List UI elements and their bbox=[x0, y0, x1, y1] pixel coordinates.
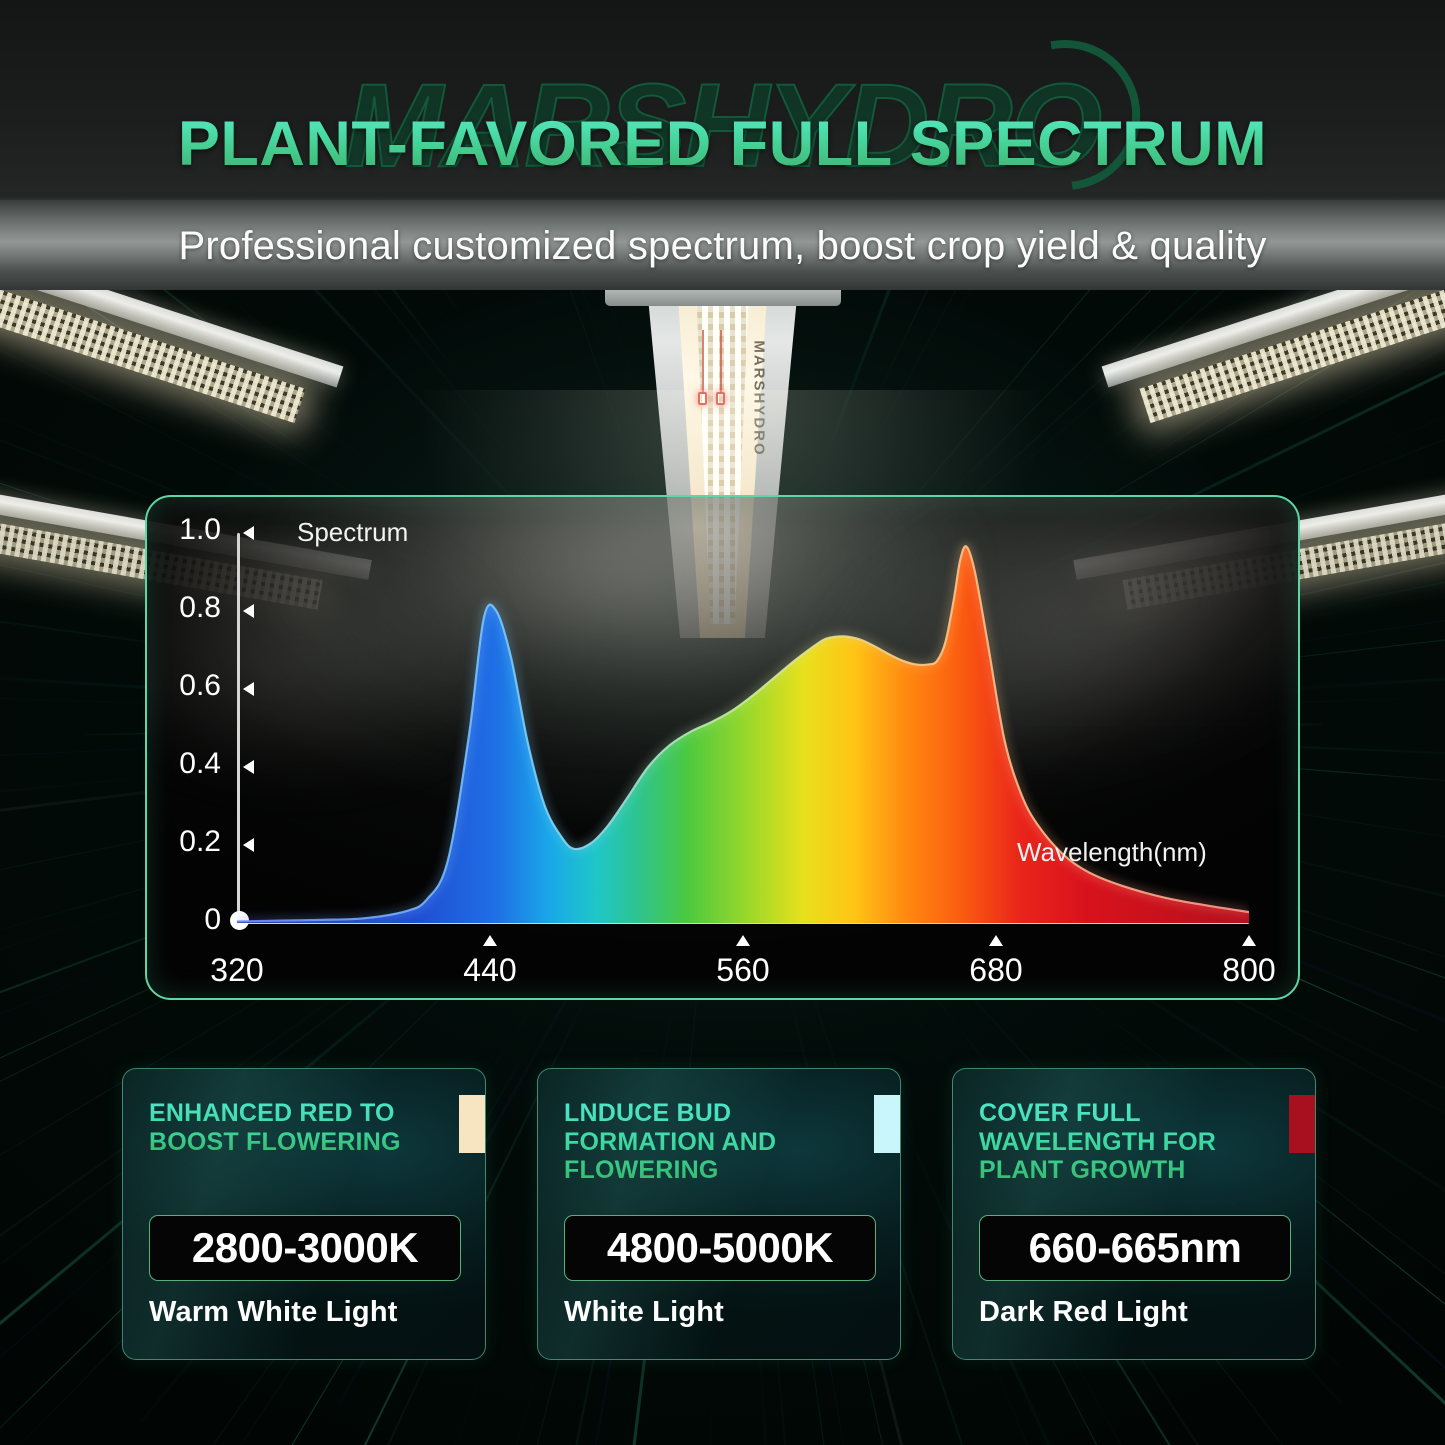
x-axis-tick-marker bbox=[989, 935, 1003, 946]
page-subtitle: Professional customized spectrum, boost … bbox=[0, 224, 1445, 269]
fixture-wire-right bbox=[720, 330, 722, 394]
y-axis-tick-marker bbox=[243, 604, 254, 618]
card-title: LNDUCE BUD FORMATION AND FLOWERING bbox=[564, 1099, 834, 1185]
card-title: COVER FULL WAVELENGTH FOR PLANT GROWTH bbox=[979, 1099, 1249, 1185]
white-swatch bbox=[874, 1095, 900, 1153]
feature-card[interactable]: ENHANCED RED TO BOOST FLOWERING2800-3000… bbox=[122, 1068, 486, 1360]
card-value: 4800-5000K bbox=[607, 1224, 833, 1272]
warm-white-swatch bbox=[459, 1095, 485, 1153]
x-axis-tick-label: 800 bbox=[1189, 952, 1300, 989]
chart-series-label: Spectrum bbox=[297, 517, 408, 548]
x-axis-tick-marker bbox=[736, 935, 750, 946]
y-axis-tick-label: 0 bbox=[151, 903, 221, 937]
card-value-box: 660-665nm bbox=[979, 1215, 1291, 1281]
header-banner: MARSHYDRO PLANT-FAVORED FULL SPECTRUM Pr… bbox=[0, 0, 1445, 290]
feature-card[interactable]: COVER FULL WAVELENGTH FOR PLANT GROWTH66… bbox=[952, 1068, 1316, 1360]
card-value: 660-665nm bbox=[1029, 1224, 1242, 1272]
spectrum-chart-panel: 1.00.80.60.40.20 320440560680800 Spectru… bbox=[145, 495, 1300, 1000]
card-value-box: 4800-5000K bbox=[564, 1215, 876, 1281]
x-axis-title: Wavelength(nm) bbox=[1017, 837, 1207, 868]
y-axis-tick-label: 0.2 bbox=[151, 825, 221, 859]
x-axis-tick-marker bbox=[1242, 935, 1256, 946]
y-axis-tick-marker bbox=[243, 760, 254, 774]
y-axis-tick-marker bbox=[243, 682, 254, 696]
fixture-wire-left bbox=[702, 330, 704, 394]
y-axis-tick-label: 0.4 bbox=[151, 747, 221, 781]
y-axis-tick-label: 0.6 bbox=[151, 669, 221, 703]
card-subtitle: White Light bbox=[564, 1296, 724, 1329]
y-axis-tick-marker bbox=[243, 838, 254, 852]
card-value: 2800-3000K bbox=[192, 1224, 418, 1272]
card-value-box: 2800-3000K bbox=[149, 1215, 461, 1281]
x-axis-tick-label: 680 bbox=[936, 952, 1056, 989]
y-axis-tick-marker bbox=[243, 526, 254, 540]
y-axis-tick-label: 0.8 bbox=[151, 591, 221, 625]
poster-root: MARSHYDRO MARSHYDRO PLANT-FAVORED FULL S… bbox=[0, 0, 1445, 1445]
x-axis-tick-marker bbox=[483, 935, 497, 946]
x-axis-tick-label: 440 bbox=[430, 952, 550, 989]
card-title: ENHANCED RED TO BOOST FLOWERING bbox=[149, 1099, 419, 1156]
x-axis-tick-label: 320 bbox=[177, 952, 297, 989]
feature-card[interactable]: LNDUCE BUD FORMATION AND FLOWERING4800-5… bbox=[537, 1068, 901, 1360]
y-axis-tick-label: 1.0 bbox=[151, 513, 221, 547]
page-title: PLANT-FAVORED FULL SPECTRUM bbox=[0, 108, 1445, 180]
card-subtitle: Dark Red Light bbox=[979, 1296, 1188, 1329]
dark-red-swatch bbox=[1289, 1095, 1315, 1153]
card-subtitle: Warm White Light bbox=[149, 1296, 398, 1329]
feature-cards: ENHANCED RED TO BOOST FLOWERING2800-3000… bbox=[0, 1068, 1445, 1378]
x-axis-tick-label: 560 bbox=[683, 952, 803, 989]
